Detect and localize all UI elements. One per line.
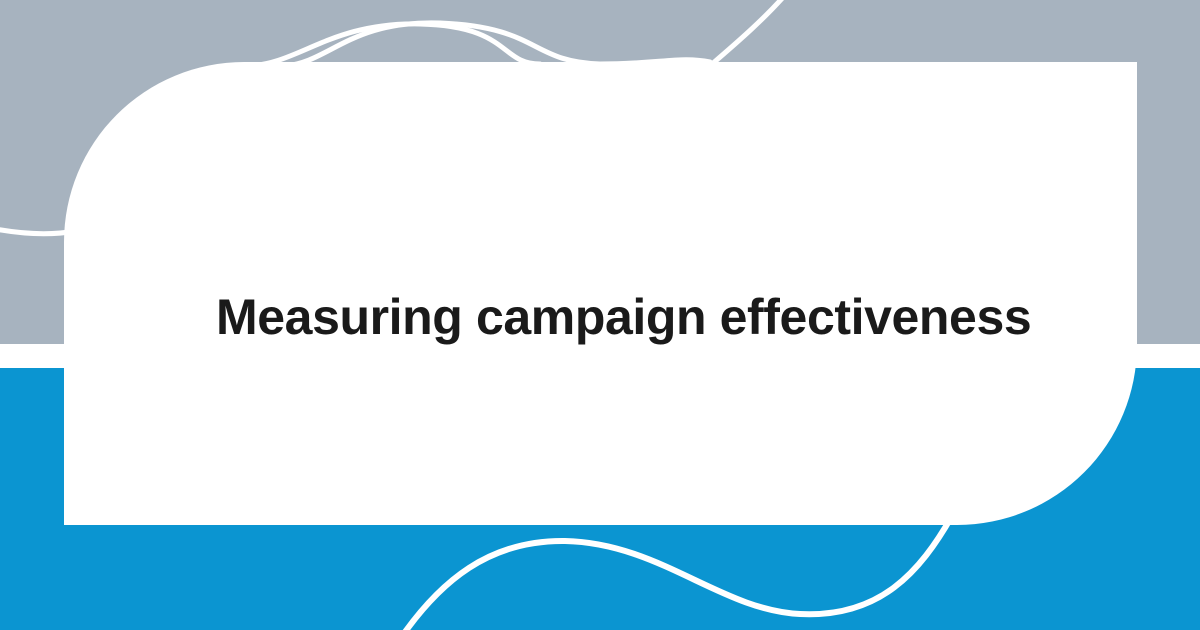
page-title: Measuring campaign effectiveness (216, 288, 1076, 346)
social-share-banner: Measuring campaign effectiveness (0, 0, 1200, 630)
